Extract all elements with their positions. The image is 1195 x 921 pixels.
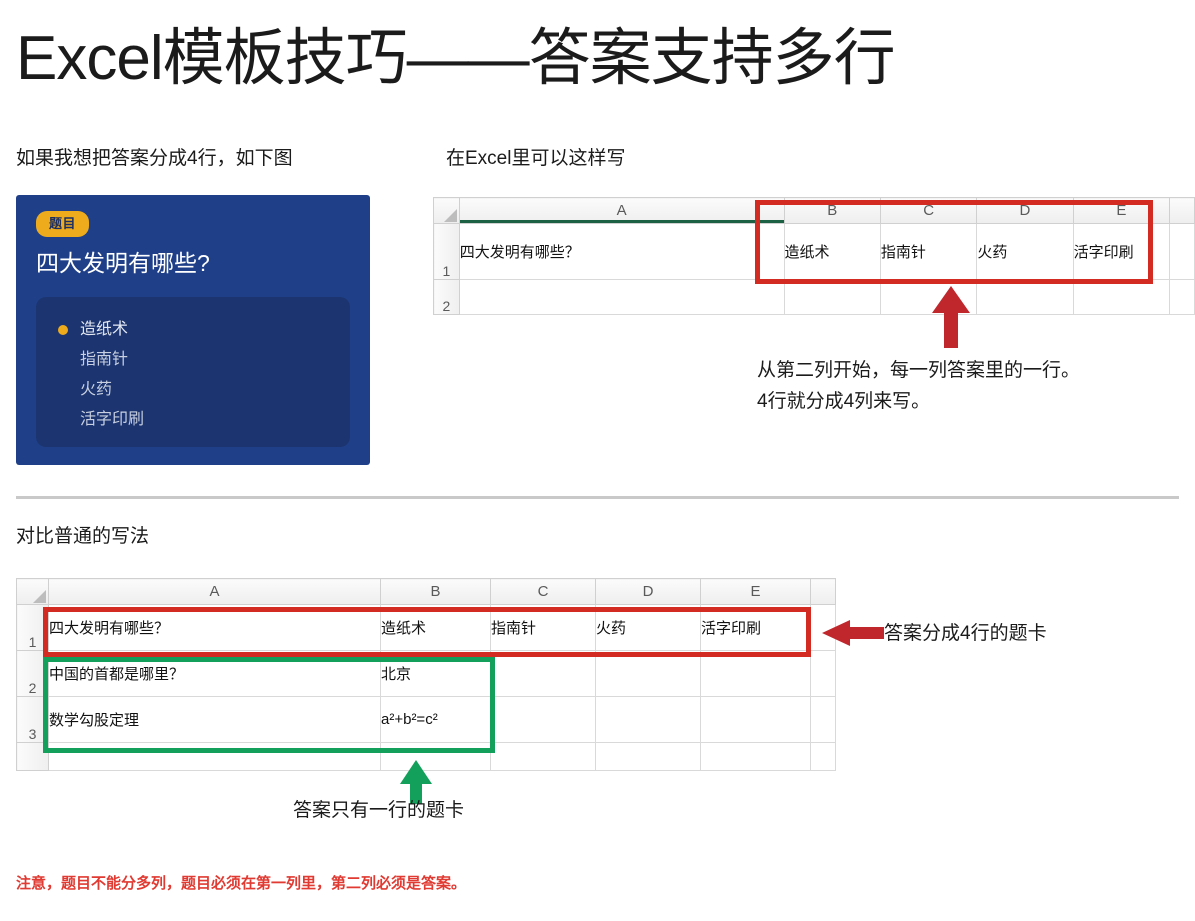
cell-a1[interactable]: 四大发明有哪些？ xyxy=(49,605,381,651)
cell-f4[interactable] xyxy=(811,743,836,771)
table-row[interactable]: 1 四大发明有哪些？ 造纸术 指南针 火药 活字印刷 xyxy=(17,605,836,651)
cell-c4[interactable] xyxy=(491,743,596,771)
cell-e2[interactable] xyxy=(701,651,811,697)
cell-d2[interactable] xyxy=(596,651,701,697)
row-header[interactable]: 2 xyxy=(434,280,460,315)
cell-d1[interactable]: 火药 xyxy=(977,224,1073,280)
answer-line: 活字印刷 xyxy=(58,405,328,435)
select-all-corner[interactable] xyxy=(17,579,49,605)
cell-a3[interactable]: 数学勾股定理 xyxy=(49,697,381,743)
row-header[interactable]: 2 xyxy=(17,651,49,697)
cell-b4[interactable] xyxy=(381,743,491,771)
cell-a1[interactable]: 四大发明有哪些？ xyxy=(459,224,784,280)
page-title: Excel模板技巧——答案支持多行 xyxy=(16,20,895,98)
cell-e1[interactable]: 活字印刷 xyxy=(1073,224,1170,280)
annotation-top-note: 从第二列开始，每一列答案里的一行。 4行就分成4列来写。 xyxy=(757,355,1080,417)
annotation-below-note: 答案只有一行的题卡 xyxy=(293,795,464,826)
cell-c1[interactable]: 指南针 xyxy=(491,605,596,651)
column-header-e[interactable]: E xyxy=(701,579,811,605)
cell-b1[interactable]: 造纸术 xyxy=(381,605,491,651)
answer-text: 火药 xyxy=(80,375,112,405)
column-header-f[interactable] xyxy=(811,579,836,605)
table-row[interactable]: 1 四大发明有哪些？ 造纸术 指南针 火药 活字印刷 xyxy=(434,224,1195,280)
row-header[interactable] xyxy=(17,743,49,771)
cell-b1[interactable]: 造纸术 xyxy=(784,224,880,280)
column-header-a[interactable]: A xyxy=(49,579,381,605)
cell-b2[interactable] xyxy=(784,280,880,315)
cell-f2[interactable] xyxy=(811,651,836,697)
cell-a2[interactable]: 中国的首都是哪里？ xyxy=(49,651,381,697)
excel-sheet-top[interactable]: A B C D E 1 四大发明有哪些？ 造纸术 指南针 火药 活字印刷 2 xyxy=(433,197,1195,315)
table-row[interactable]: 2 xyxy=(434,280,1195,315)
cell-c1[interactable]: 指南针 xyxy=(880,224,976,280)
cell-a2[interactable] xyxy=(459,280,784,315)
column-header-f[interactable] xyxy=(1170,198,1195,224)
quiz-answer-box: 造纸术 指南针 火药 活字印刷 xyxy=(36,297,350,447)
answer-line: 指南针 xyxy=(58,345,328,375)
caption-lower: 对比普通的写法 xyxy=(16,524,149,550)
caption-right: 在Excel里可以这样写 xyxy=(446,146,625,172)
answer-text: 活字印刷 xyxy=(80,405,144,435)
quiz-question: 四大发明有哪些? xyxy=(36,248,350,278)
column-header-b[interactable]: B xyxy=(784,198,880,224)
column-header-c[interactable]: C xyxy=(491,579,596,605)
cell-d2[interactable] xyxy=(977,280,1073,315)
row-header[interactable]: 3 xyxy=(17,697,49,743)
cell-f1[interactable] xyxy=(1170,224,1195,280)
table-row[interactable]: 2 中国的首都是哪里？ 北京 xyxy=(17,651,836,697)
answer-line: 火药 xyxy=(58,375,328,405)
quiz-card: 题目 四大发明有哪些? 造纸术 指南针 火药 活字印刷 xyxy=(16,195,370,465)
answer-line: 造纸术 xyxy=(58,315,328,345)
section-divider xyxy=(16,496,1179,499)
excel-sheet-lower[interactable]: A B C D E 1 四大发明有哪些？ 造纸术 指南针 火药 活字印刷 2 中… xyxy=(16,578,836,771)
column-header-e[interactable]: E xyxy=(1073,198,1170,224)
quiz-badge: 题目 xyxy=(36,211,89,237)
cell-e2[interactable] xyxy=(1073,280,1170,315)
column-header-d[interactable]: D xyxy=(977,198,1073,224)
cell-e4[interactable] xyxy=(701,743,811,771)
row-header[interactable]: 1 xyxy=(434,224,460,280)
caption-left: 如果我想把答案分成4行，如下图 xyxy=(16,146,293,172)
corner-triangle-icon xyxy=(444,209,457,222)
row-header[interactable]: 1 xyxy=(17,605,49,651)
annotation-right-note: 答案分成4行的题卡 xyxy=(884,618,1047,649)
bullet-dot-icon xyxy=(58,325,68,335)
column-header-a[interactable]: A xyxy=(459,198,784,224)
column-header-d[interactable]: D xyxy=(596,579,701,605)
cell-f2[interactable] xyxy=(1170,280,1195,315)
cell-d3[interactable] xyxy=(596,697,701,743)
cell-a4[interactable] xyxy=(49,743,381,771)
corner-triangle-icon xyxy=(33,590,46,603)
cell-e3[interactable] xyxy=(701,697,811,743)
cell-b2[interactable]: 北京 xyxy=(381,651,491,697)
footer-warning-note: 注意，题目不能分多列，题目必须在第一列里，第二列必须是答案。 xyxy=(16,872,466,893)
answer-text: 指南针 xyxy=(80,345,128,375)
table-row[interactable]: 3 数学勾股定理 a²+b²=c² xyxy=(17,697,836,743)
cell-e1[interactable]: 活字印刷 xyxy=(701,605,811,651)
red-arrow-up-icon xyxy=(928,286,974,348)
cell-c2[interactable] xyxy=(491,651,596,697)
select-all-corner[interactable] xyxy=(434,198,460,224)
cell-d4[interactable] xyxy=(596,743,701,771)
cell-b3[interactable]: a²+b²=c² xyxy=(381,697,491,743)
cell-c3[interactable] xyxy=(491,697,596,743)
answer-text: 造纸术 xyxy=(80,315,128,345)
cell-d1[interactable]: 火药 xyxy=(596,605,701,651)
red-arrow-left-icon xyxy=(822,620,884,646)
column-header-c[interactable]: C xyxy=(880,198,976,224)
cell-f3[interactable] xyxy=(811,697,836,743)
column-header-b[interactable]: B xyxy=(381,579,491,605)
